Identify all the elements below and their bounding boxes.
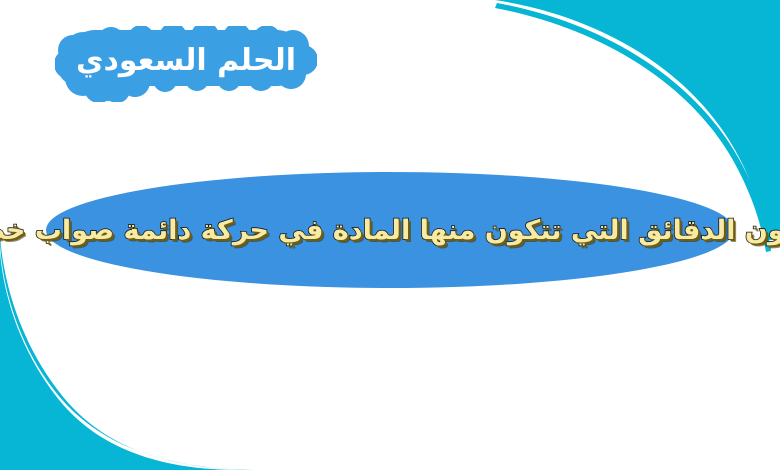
poster-canvas: الحلم السعودي تكون الدقائق التي تتكون من… xyxy=(0,0,780,470)
headline-banner: تكون الدقائق التي تتكون منها المادة في ح… xyxy=(46,172,734,288)
headline-text: تكون الدقائق التي تتكون منها المادة في ح… xyxy=(46,172,734,288)
site-logo[interactable]: الحلم السعودي xyxy=(55,26,317,102)
logo-text: الحلم السعودي xyxy=(55,26,317,102)
